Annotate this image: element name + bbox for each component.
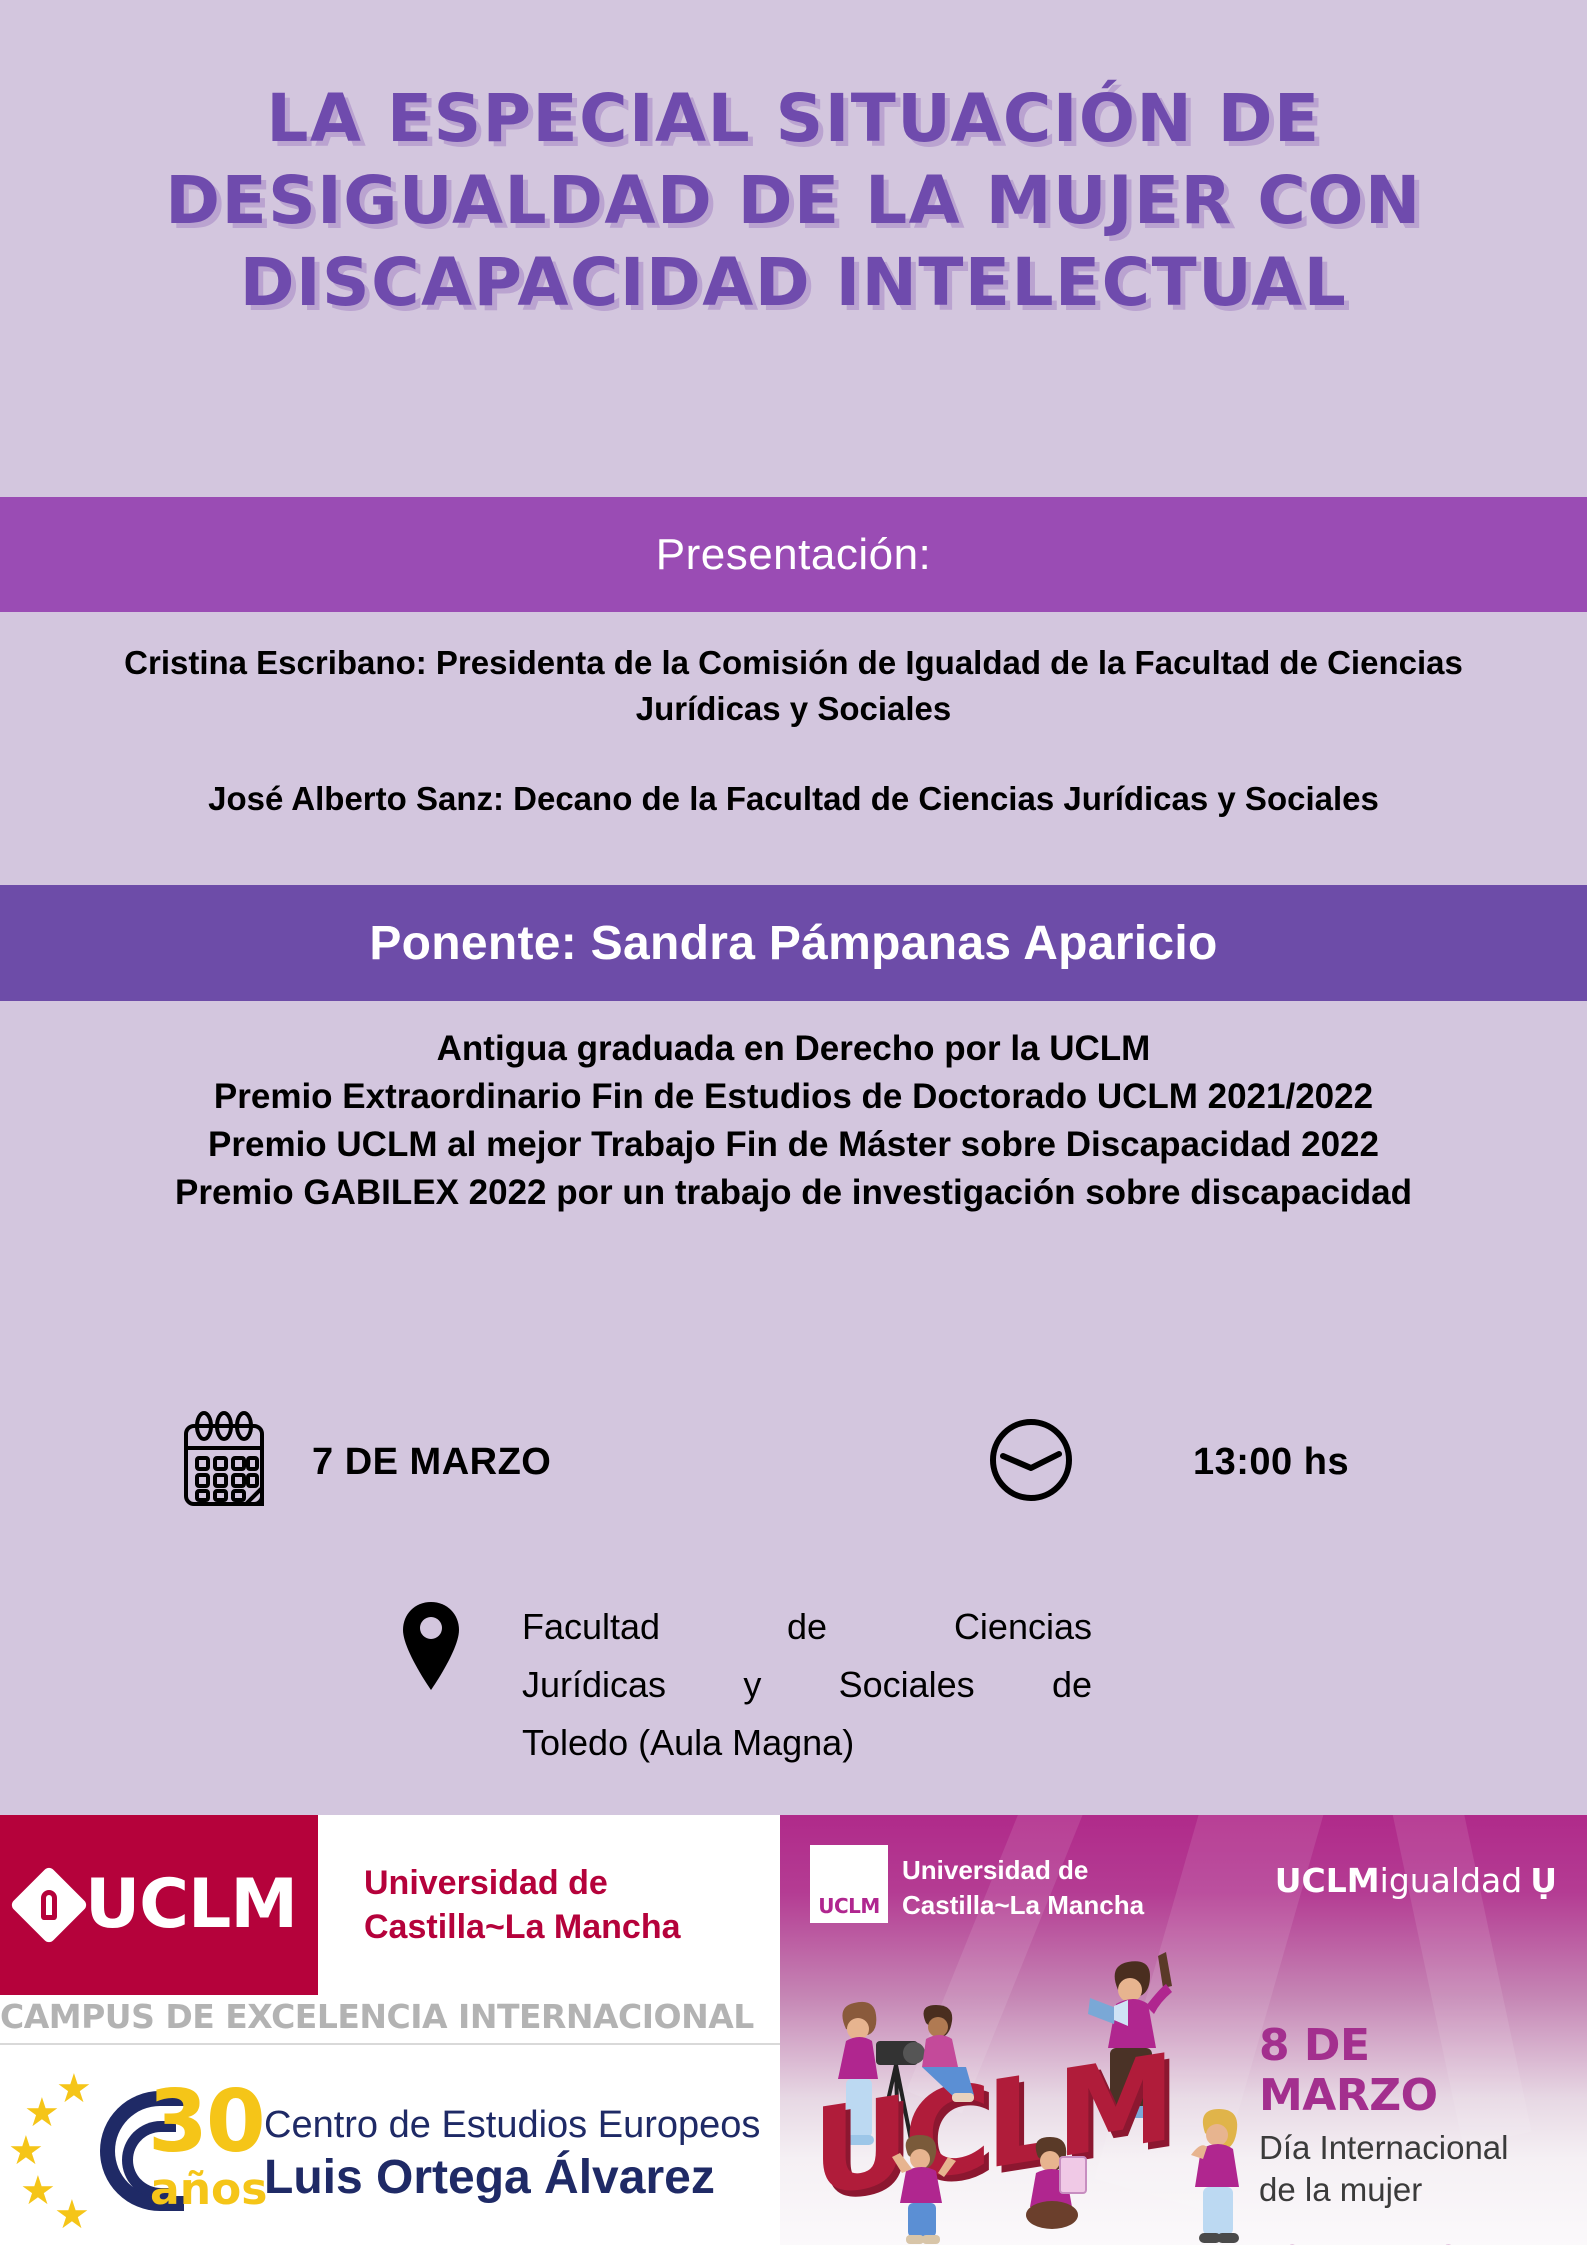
footer-banner-8marzo: UCLM Universidad de Castilla~La Mancha U… — [780, 1815, 1587, 2245]
credential-item: Premio UCLM al mejor Trabajo Fin de Mást… — [30, 1121, 1557, 1169]
cee-logo: ★ ★ ★ ★ ★ 30 años Centro de Estudios Eur… — [0, 2063, 780, 2245]
banner-hashtag: #8marzo_UCLM — [1259, 2239, 1559, 2245]
banner-uclm-wordmark: UCLM — [818, 1894, 880, 1918]
presentacion-band-label: Presentación: — [656, 530, 932, 580]
cee-title: Centro de Estudios Europeos Luis Ortega … — [264, 2101, 760, 2207]
event-datetime-row: 7 DE MARZO 13:00 hs — [0, 1410, 1587, 1530]
banner-uclm-name-line-2: Castilla~La Mancha — [902, 1888, 1144, 1923]
presentacion-band: Presentación: — [0, 497, 1587, 612]
title-line-2: DESIGUALDAD DE LA MUJER CON — [0, 160, 1587, 242]
cee-30-anniversary: 30 años — [96, 2069, 246, 2239]
igualdad-u-icon: Ụ — [1530, 1861, 1557, 1900]
event-date-group: 7 DE MARZO — [178, 1410, 551, 1515]
cee-title-line-2: Luis Ortega Álvarez — [264, 2149, 760, 2207]
clock-icon — [985, 1414, 1077, 1511]
title-line-3: DISCAPACIDAD INTELECTUAL — [0, 242, 1587, 324]
map-pin-icon — [400, 1598, 462, 1699]
igualdad-bold-text: UCLM — [1275, 1861, 1380, 1900]
banner-headline: 8 DE MARZO — [1259, 2021, 1559, 2121]
presenter-item: José Alberto Sanz: Decano de la Facultad… — [60, 776, 1527, 822]
uclm-name-line-1: Universidad de — [364, 1861, 681, 1905]
banner-8marzo-text: 8 DE MARZO Día Internacional de la mujer… — [1259, 2021, 1559, 2245]
uclm-diamond-icon — [9, 1865, 88, 1944]
ponente-credentials: Antigua graduada en Derecho por la UCLM … — [30, 1025, 1557, 1217]
uclm-name-line-2: Castilla~La Mancha — [364, 1905, 681, 1949]
illustration-blonde-woman — [1175, 2107, 1270, 2245]
ponente-band-label: Ponente: Sandra Pámpanas Aparicio — [369, 916, 1217, 971]
cee-anniversary-number: 30 — [148, 2079, 264, 2165]
banner-subtitle: Día Internacional de la mujer — [1259, 2127, 1559, 2211]
credential-item: Premio GABILEX 2022 por un trabajo de in… — [30, 1169, 1557, 1217]
cee-title-line-1: Centro de Estudios Europeos — [264, 2101, 760, 2149]
banner-uclm-name: Universidad de Castilla~La Mancha — [902, 1853, 1144, 1923]
illustration-seated-woman — [900, 2005, 995, 2125]
uclm-logo: UCLM Universidad de Castilla~La Mancha — [0, 1815, 780, 1995]
credential-item: Antigua graduada en Derecho por la UCLM — [30, 1025, 1557, 1073]
illustration-tablet-woman — [1010, 2135, 1105, 2245]
credential-item: Premio Extraordinario Fin de Estudios de… — [30, 1073, 1557, 1121]
presenters-list: Cristina Escribano: Presidenta de la Com… — [60, 640, 1527, 822]
presenter-item: Cristina Escribano: Presidenta de la Com… — [60, 640, 1527, 732]
location-line-1: FacultaddeCiencias — [522, 1598, 1092, 1656]
banner-uclm-name-line-1: Universidad de — [902, 1853, 1144, 1888]
igualdad-light-text: igualdad — [1380, 1861, 1523, 1900]
event-location-group: FacultaddeCiencias JurídicasySocialesde … — [400, 1598, 1092, 1772]
calendar-icon — [178, 1410, 270, 1515]
uclm-campus-tagline: CAMPUS DE EXCELENCIA INTERNACIONAL — [0, 1997, 780, 2037]
uclm-wordmark: UCLM — [85, 1870, 297, 1940]
page-title: LA ESPECIAL SITUACIÓN DE DESIGUALDAD DE … — [0, 78, 1587, 324]
banner-uclm-igualdad-logo: UCLMigualdadỤ — [1275, 1863, 1557, 1899]
event-location-text: FacultaddeCiencias JurídicasySocialesde … — [522, 1598, 1092, 1772]
poster-root: LA ESPECIAL SITUACIÓN DE DESIGUALDAD DE … — [0, 0, 1587, 2245]
event-time-group: 13:00 hs — [985, 1414, 1349, 1511]
ponente-band: Ponente: Sandra Pámpanas Aparicio — [0, 885, 1587, 1001]
footer: UCLM Universidad de Castilla~La Mancha C… — [0, 1815, 1587, 2245]
uclm-red-block: UCLM — [0, 1815, 318, 1995]
uclm-university-name: Universidad de Castilla~La Mancha — [364, 1861, 681, 1949]
banner-subtitle-line-1: Día Internacional — [1259, 2127, 1559, 2169]
title-line-1: LA ESPECIAL SITUACIÓN DE — [0, 78, 1587, 160]
footer-logos-left: UCLM Universidad de Castilla~La Mancha C… — [0, 1815, 780, 2245]
cee-anniversary-word: años — [150, 2167, 267, 2213]
event-time-text: 13:00 hs — [1193, 1441, 1349, 1484]
illustration-lifting-woman — [880, 2133, 970, 2245]
banner-uclm-box: UCLM — [810, 1845, 888, 1923]
location-line-3: Toledo (Aula Magna) — [522, 1714, 1092, 1772]
event-date-text: 7 DE MARZO — [312, 1441, 551, 1484]
location-line-2: JurídicasySocialesde — [522, 1656, 1092, 1714]
footer-divider — [0, 2043, 780, 2045]
banner-subtitle-line-2: de la mujer — [1259, 2169, 1559, 2211]
